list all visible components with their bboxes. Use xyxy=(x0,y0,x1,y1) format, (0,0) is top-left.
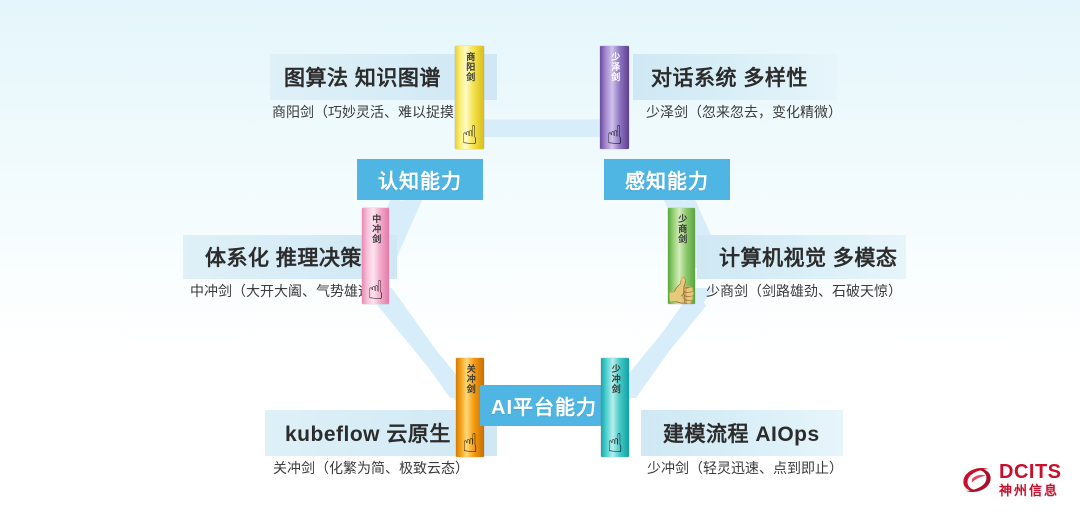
capability-label: 认知能力 xyxy=(378,165,462,194)
capability-pill-perceptual[interactable]: 感知能力 xyxy=(604,159,730,200)
capability-pill-cognitive[interactable]: 认知能力 xyxy=(357,159,483,200)
sword-column-shaoshang: 少商剑 👍 xyxy=(668,208,695,304)
swoosh-icon xyxy=(960,463,994,497)
node-title: kubeflow 云原生 xyxy=(285,418,451,448)
sword-label: 少泽剑 xyxy=(610,52,619,82)
node-caption-dialogue-system: 少泽剑（忽来忽去，变化精微） xyxy=(646,102,842,122)
sword-column-shangyang: 商阳剑 ☝ xyxy=(455,46,484,149)
hexagon-connector xyxy=(0,0,1080,519)
capability-label: AI平台能力 xyxy=(491,391,597,420)
sword-column-shaochong: 少冲剑 ☝ xyxy=(601,358,629,457)
node-title: 计算机视觉 多模态 xyxy=(719,242,897,272)
thumbs-up-icon: 👍 xyxy=(668,277,695,303)
sword-column-shaoze: 少泽剑 ☝ xyxy=(600,46,629,149)
pointing-hand-icon: ☝ xyxy=(368,277,384,303)
pointing-hand-icon: ☝ xyxy=(462,122,478,148)
node-title: 对话系统 多样性 xyxy=(651,62,808,92)
pointing-hand-icon: ☝ xyxy=(607,430,623,456)
sword-label: 中冲剑 xyxy=(371,214,380,244)
node-caption-computer-vision: 少商剑（剑路雄劲、石破天惊） xyxy=(706,281,902,301)
node-banner-dialogue-system: 对话系统 多样性 xyxy=(633,54,837,100)
capability-label: 感知能力 xyxy=(625,165,709,194)
sword-column-zhongchong: 中冲剑 ☝ xyxy=(362,208,389,304)
sword-label: 关冲剑 xyxy=(465,364,474,394)
node-caption-modeling-aiops: 少冲剑（轻灵迅速、点到即止） xyxy=(647,458,843,478)
sword-label: 少冲剑 xyxy=(610,364,619,394)
capability-pill-platform[interactable]: AI平台能力 xyxy=(480,385,608,426)
pointing-hand-icon: ☝ xyxy=(607,122,623,148)
company-logo: DCITS 神州信息 xyxy=(960,462,1062,497)
node-banner-modeling-aiops: 建模流程 AIOps xyxy=(641,410,843,456)
node-caption-knowledge-graph: 商阳剑（巧妙灵活、难以捉摸） xyxy=(272,102,468,122)
node-title: 体系化 推理决策 xyxy=(205,242,362,272)
node-caption-reasoning-decision: 中冲剑（大开大阖、气势雄迈） xyxy=(190,281,386,301)
node-caption-kubeflow: 关冲剑（化繁为简、极致云态） xyxy=(273,458,469,478)
logo-subtitle: 神州信息 xyxy=(999,484,1062,497)
sword-label: 少商剑 xyxy=(677,214,686,244)
logo-name: DCITS xyxy=(999,462,1062,482)
slide-canvas: 图算法 知识图谱 商阳剑（巧妙灵活、难以捉摸） 商阳剑 ☝ 少泽剑 ☝ 对话系统… xyxy=(0,0,1080,519)
sword-label: 商阳剑 xyxy=(465,52,474,82)
node-title: 建模流程 AIOps xyxy=(663,418,820,448)
node-banner-computer-vision: 计算机视觉 多模态 xyxy=(697,235,906,279)
pointing-hand-icon: ☝ xyxy=(462,430,478,456)
node-title: 图算法 知识图谱 xyxy=(284,62,441,92)
